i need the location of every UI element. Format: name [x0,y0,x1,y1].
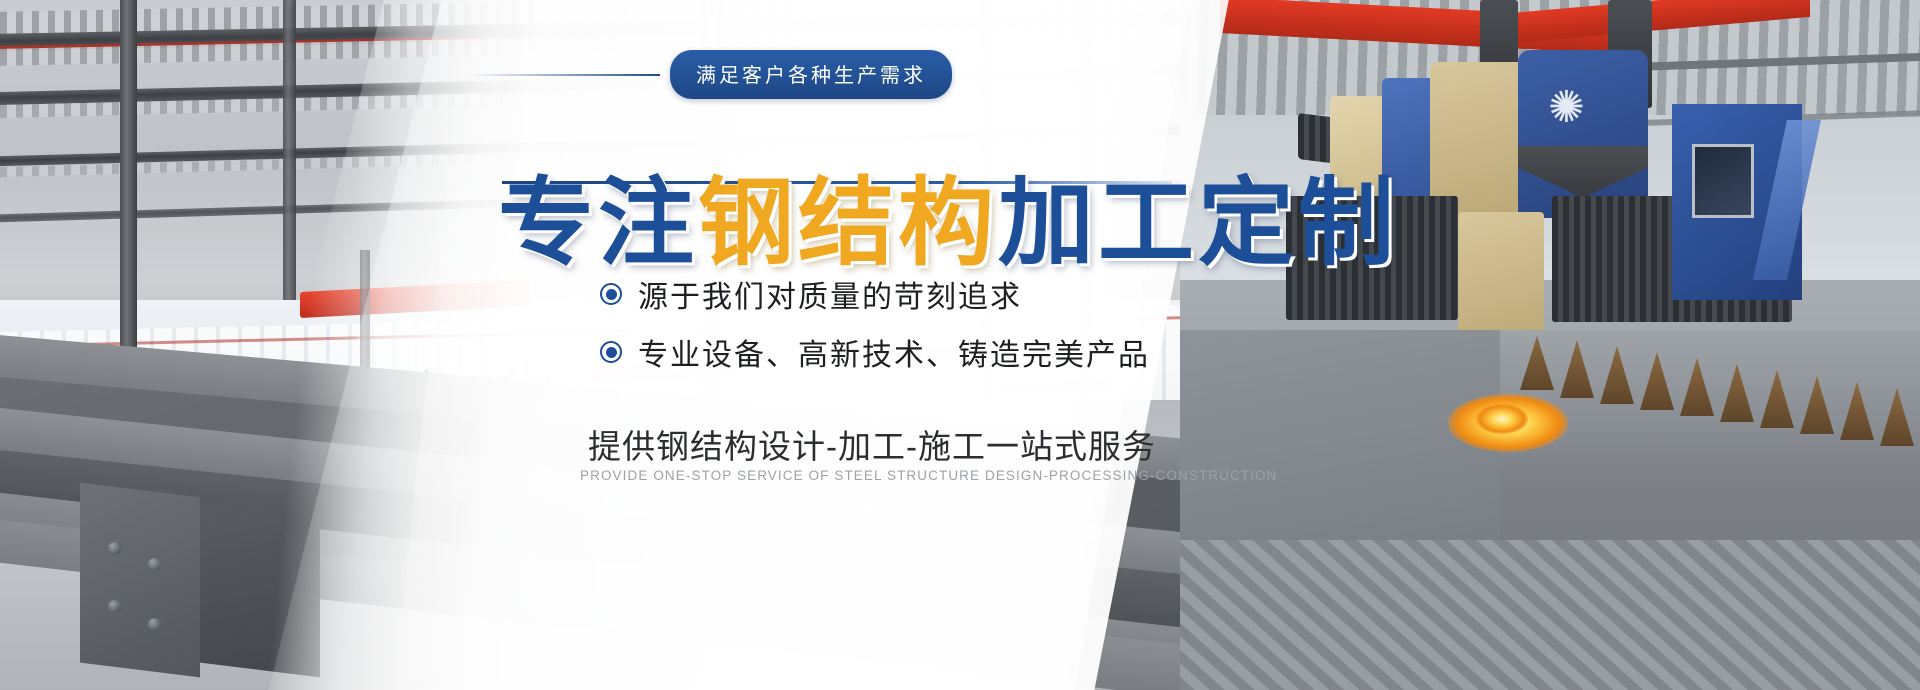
list-item: 源于我们对质量的苛刻追求 [600,272,1150,316]
headline-part-1: 专注 [498,170,698,277]
bullet-dot-icon [600,341,622,363]
hero-banner: ✺ 满足客户各种生产需 [0,0,1920,690]
bullet-text: 专业设备、高新技术、铸造完美产品 [638,330,1150,374]
badge-leading-rule [470,74,660,76]
service-tagline: 提供钢结构设计-加工-施工一站式服务 [588,420,1156,468]
headline-part-2: 钢结构 [698,170,998,277]
headline-part-3: 加工定制 [998,170,1398,277]
bullet-text: 源于我们对质量的苛刻追求 [638,272,1022,316]
banner-content: 满足客户各种生产需求 专注钢结构加工定制 源于我们对质量的苛刻追求 专业设备、高… [0,0,1920,690]
slogan-badge: 满足客户各种生产需求 [670,50,952,99]
badge-row: 满足客户各种生产需求 [470,50,952,99]
page-title: 专注钢结构加工定制 [498,167,1398,280]
list-item: 专业设备、高新技术、铸造完美产品 [600,330,1150,374]
service-tagline-english: PROVIDE ONE-STOP SERVICE OF STEEL STRUCT… [580,468,1277,483]
bullet-dot-icon [600,283,622,305]
feature-bullet-list: 源于我们对质量的苛刻追求 专业设备、高新技术、铸造完美产品 [600,272,1150,388]
